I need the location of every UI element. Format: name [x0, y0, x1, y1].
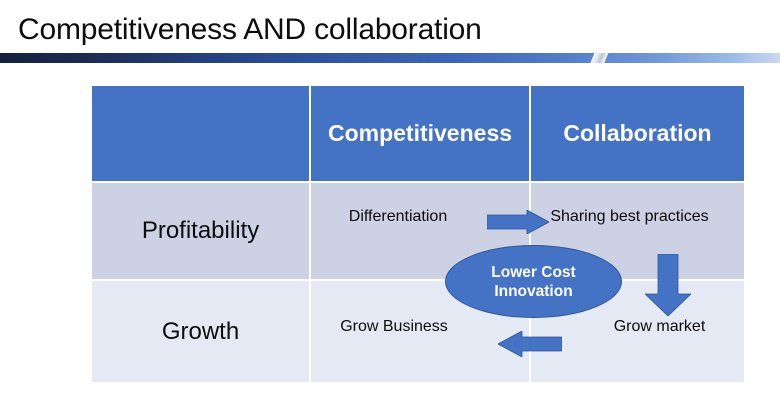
callout-line-1: Lower Cost	[491, 263, 575, 282]
callout-lower-cost-innovation: Lower Cost Innovation	[445, 245, 622, 318]
row-label-profitability: Profitability	[142, 217, 259, 245]
row-label-growth: Growth	[162, 318, 239, 346]
cell-text-differentiation: Differentiation	[349, 208, 447, 226]
page-title: Competitiveness AND collaboration	[18, 11, 482, 49]
title-divider-bar	[0, 53, 780, 63]
matrix-header-collaboration-label: Collaboration	[563, 120, 711, 147]
cell-text-sharing-best-practices: Sharing best practices	[550, 208, 708, 226]
comparison-matrix: Competitiveness Collaboration Profitabil…	[92, 86, 744, 382]
divider-highlight-slash	[588, 53, 609, 63]
matrix-header-collaboration: Collaboration	[529, 86, 744, 181]
matrix-header-competitiveness: Competitiveness	[309, 86, 529, 181]
cell-text-grow-business: Grow Business	[340, 318, 448, 336]
arrow-right-icon	[487, 210, 549, 234]
matrix-corner-cell	[92, 86, 309, 181]
slide: Competitiveness AND collaboration Compet…	[0, 0, 780, 409]
callout-line-2: Innovation	[494, 282, 572, 301]
cell-text-grow-market: Grow market	[614, 318, 706, 336]
row-label-profitability-cell: Profitability	[92, 183, 309, 279]
arrow-down-icon	[645, 254, 691, 316]
matrix-header-row: Competitiveness Collaboration	[92, 86, 744, 181]
row-label-growth-cell: Growth	[92, 281, 309, 382]
matrix-header-competitiveness-label: Competitiveness	[328, 120, 512, 147]
arrow-left-icon	[498, 331, 562, 357]
